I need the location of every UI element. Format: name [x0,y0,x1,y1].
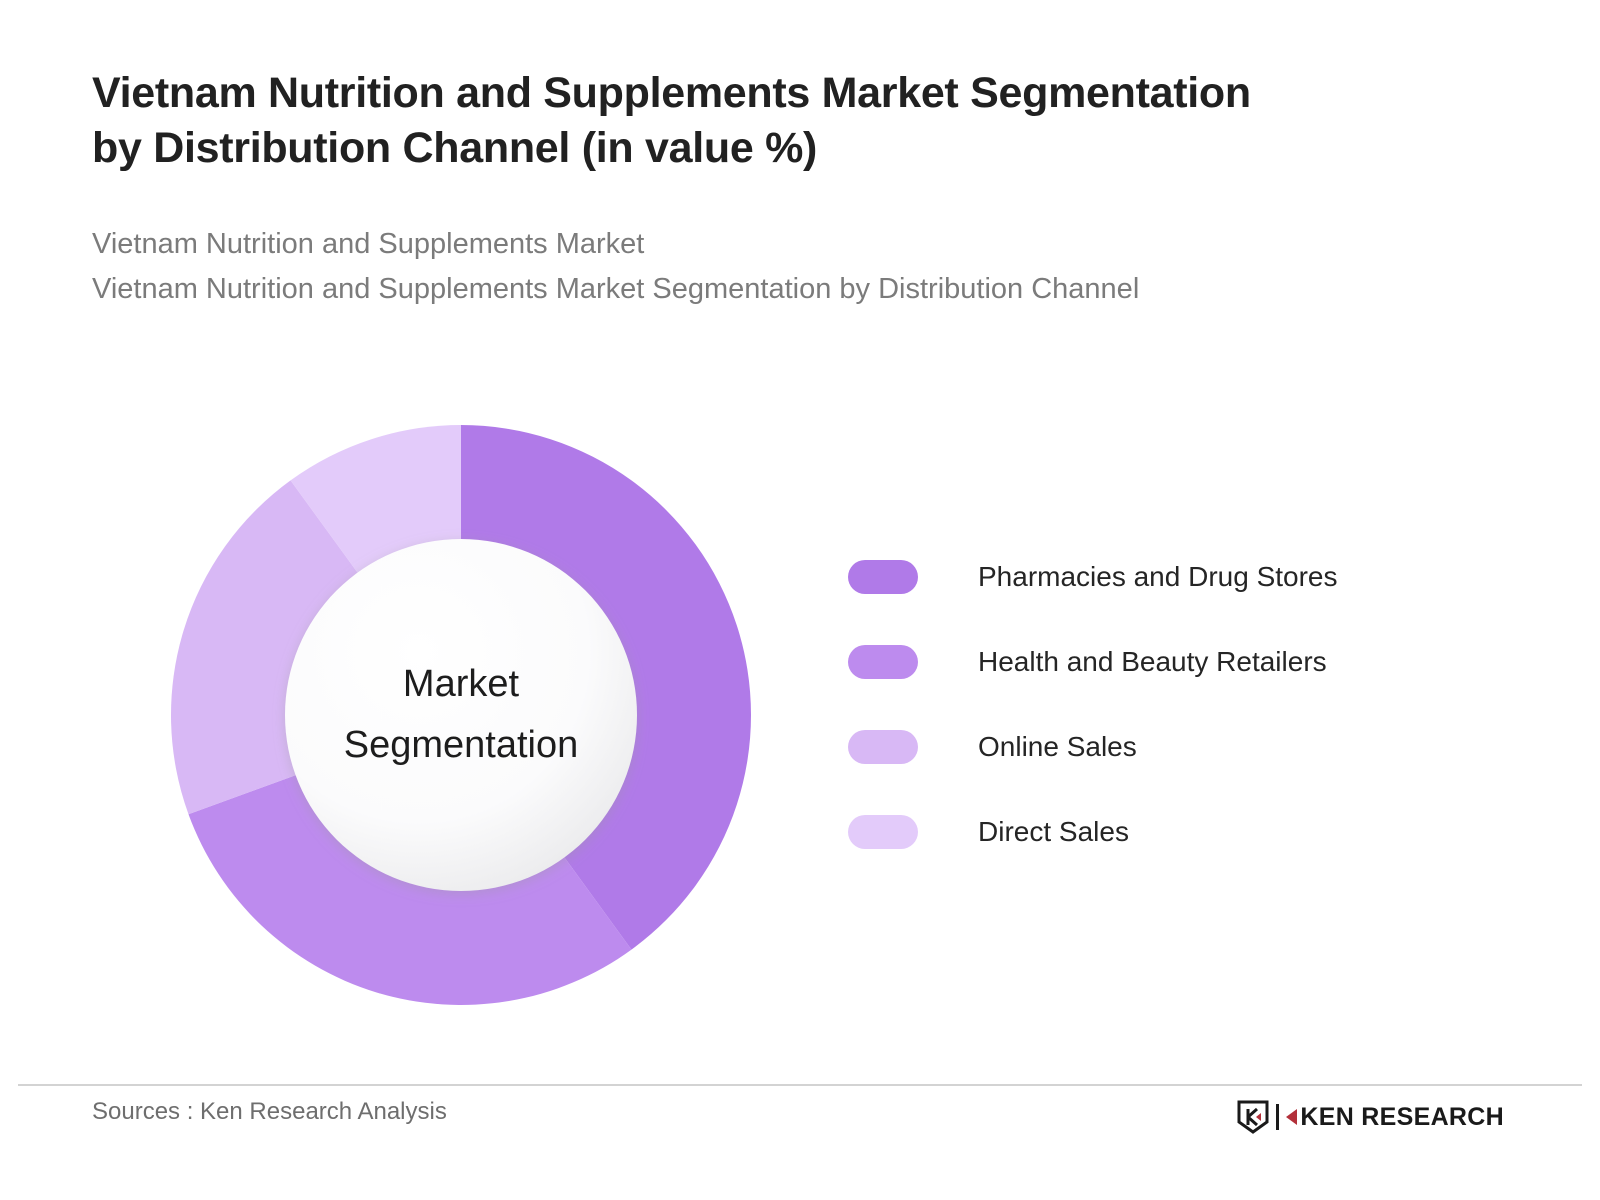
page-title: Vietnam Nutrition and Supplements Market… [92,66,1512,176]
legend-item[interactable]: Pharmacies and Drug Stores [848,534,1468,619]
ken-research-logo: KEN RESEARCH [1237,1100,1504,1134]
brand-text: KEN RESEARCH [1286,1103,1504,1132]
chart-legend: Pharmacies and Drug Stores Health and Be… [848,534,1468,874]
source-note: Sources : Ken Research Analysis [92,1098,447,1126]
legend-item-label: Health and Beauty Retailers [978,646,1327,678]
legend-item[interactable]: Direct Sales [848,789,1468,874]
donut-hub [285,539,637,891]
logo-divider [1276,1104,1279,1130]
legend-item-label: Direct Sales [978,816,1129,848]
legend-swatch-icon [848,560,918,594]
legend-item-label: Pharmacies and Drug Stores [978,561,1338,593]
donut-chart: Market Segmentation [168,422,754,1008]
brand-name-label: KEN RESEARCH [1300,1103,1504,1132]
legend-item-label: Online Sales [978,731,1137,763]
page-subtitle: Vietnam Nutrition and Supplements Market… [92,222,1512,312]
legend-swatch-icon [848,815,918,849]
slide-canvas: Vietnam Nutrition and Supplements Market… [0,0,1600,1200]
legend-swatch-icon [848,645,918,679]
legend-item[interactable]: Online Sales [848,704,1468,789]
brand-caret-icon [1286,1109,1297,1125]
legend-swatch-icon [848,730,918,764]
legend-item[interactable]: Health and Beauty Retailers [848,619,1468,704]
shield-k-icon [1237,1100,1269,1134]
header: Vietnam Nutrition and Supplements Market… [92,66,1512,312]
footer-divider [18,1084,1582,1086]
donut-chart-svg [168,422,754,1008]
